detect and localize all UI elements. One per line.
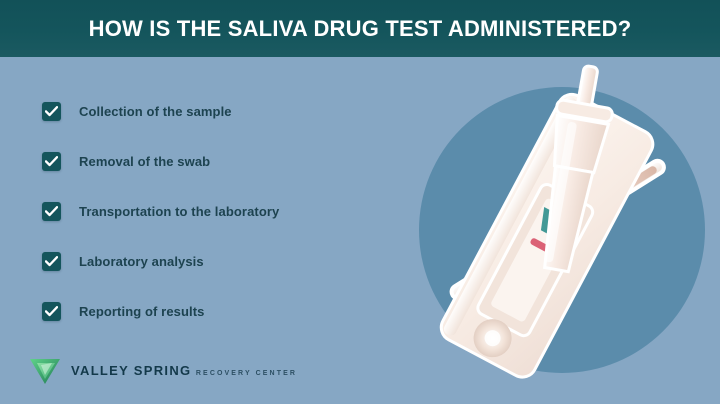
saliva-drug-test-kit-illustration — [396, 62, 720, 404]
header-band: HOW IS THE SALIVA DRUG TEST ADMINISTERED… — [0, 0, 720, 57]
list-item-label: Removal of the swab — [79, 154, 210, 169]
list-item: Removal of the swab — [42, 150, 372, 172]
page-title: HOW IS THE SALIVA DRUG TEST ADMINISTERED… — [89, 16, 632, 42]
checkbox-checked-icon — [42, 102, 61, 121]
list-item: Laboratory analysis — [42, 250, 372, 272]
brand-name: VALLEY SPRING — [71, 363, 191, 378]
list-item: Reporting of results — [42, 300, 372, 322]
list-item-label: Reporting of results — [79, 304, 205, 319]
list-item-label: Collection of the sample — [79, 104, 232, 119]
brand-logo-text: VALLEY SPRING RECOVERY CENTER — [71, 362, 297, 380]
checkbox-checked-icon — [42, 202, 61, 221]
checkbox-checked-icon — [42, 252, 61, 271]
list-item: Transportation to the laboratory — [42, 200, 372, 222]
checklist: Collection of the sample Removal of the … — [42, 100, 372, 322]
list-item-label: Transportation to the laboratory — [79, 204, 279, 219]
list-item-label: Laboratory analysis — [79, 254, 204, 269]
checkbox-checked-icon — [42, 152, 61, 171]
valley-spring-chevron-icon — [28, 356, 62, 386]
list-item: Collection of the sample — [42, 100, 372, 122]
brand-logo: VALLEY SPRING RECOVERY CENTER — [28, 356, 297, 386]
brand-subtitle: RECOVERY CENTER — [196, 370, 297, 377]
infographic-canvas: HOW IS THE SALIVA DRUG TEST ADMINISTERED… — [0, 0, 720, 404]
checkbox-checked-icon — [42, 302, 61, 321]
